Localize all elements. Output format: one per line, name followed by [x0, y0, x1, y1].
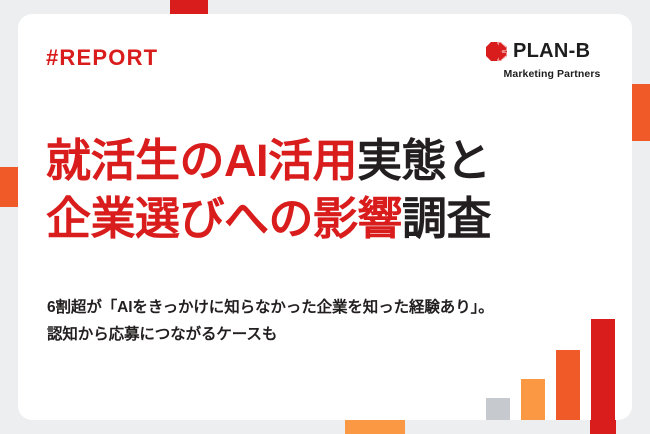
accent-bottom-orange [345, 419, 405, 434]
headline-line-1: 就活生のAI活用実態と [46, 132, 606, 190]
headline-line-2-emphasis: 企業選びへの影響 [46, 193, 402, 244]
report-poster: #REPORT PLAN-B Marketing Partners 就活生のAI… [0, 0, 650, 434]
accent-top-red [170, 0, 208, 15]
headline-line-1-emphasis: 就活生のAI活用 [46, 135, 357, 186]
chart-bar [486, 398, 510, 420]
headline-line-2-rest: 調査 [402, 193, 491, 244]
report-kicker: #REPORT [46, 47, 158, 69]
plan-b-tagline: Marketing Partners [486, 68, 616, 80]
decorative-bar-chart [472, 300, 632, 420]
chart-bar [556, 350, 580, 420]
chart-bar [591, 319, 615, 420]
headline-line-2: 企業選びへの影響調査 [46, 190, 606, 248]
accent-left-orange [0, 167, 19, 207]
headline: 就活生のAI活用実態と 企業選びへの影響調査 [46, 132, 606, 247]
card-header: #REPORT PLAN-B Marketing Partners [18, 14, 632, 106]
chart-bar [521, 379, 545, 420]
plan-b-logo: PLAN-B Marketing Partners [486, 40, 616, 80]
plan-b-logo-mark [486, 42, 507, 61]
headline-line-1-rest: 実態と [357, 135, 491, 186]
accent-right-orange [632, 84, 650, 141]
plan-b-wordmark: PLAN-B [513, 41, 590, 61]
report-card: #REPORT PLAN-B Marketing Partners 就活生のAI… [18, 14, 632, 420]
